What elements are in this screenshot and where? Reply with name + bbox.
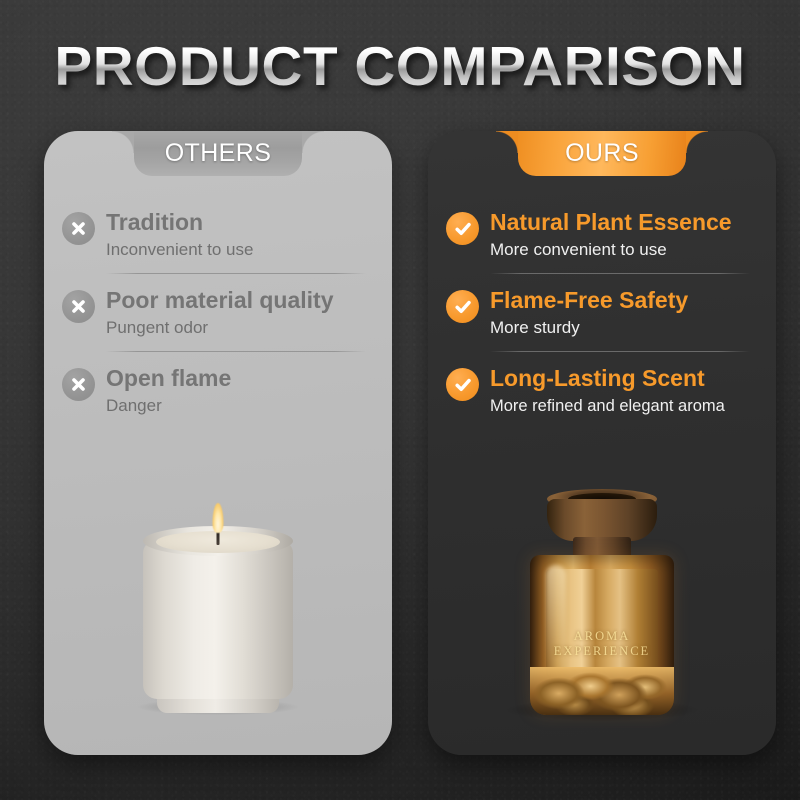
list-item: Poor material quality Pungent odor bbox=[62, 273, 374, 349]
check-circle-icon bbox=[446, 368, 479, 401]
tab-others[interactable]: OTHERS bbox=[134, 131, 302, 176]
tab-flare-left bbox=[112, 131, 134, 153]
feature-text: Long-Lasting Scent More refined and eleg… bbox=[490, 365, 725, 417]
feature-text: Tradition Inconvenient to use bbox=[106, 209, 253, 261]
tab-flare-right bbox=[302, 131, 324, 153]
tab-others-label: OTHERS bbox=[165, 139, 272, 168]
ours-card: OURS Natural Plant Essence More convenie… bbox=[428, 131, 776, 755]
feature-title: Tradition bbox=[106, 209, 203, 235]
ours-feature-list: Natural Plant Essence More convenient to… bbox=[428, 195, 776, 427]
feature-subtitle: Pungent odor bbox=[106, 317, 334, 339]
page-title: PRODUCT COMPARISON bbox=[0, 34, 800, 98]
diffuser-product-image: AROMA EXPERIENCE bbox=[428, 458, 776, 733]
tab-ours-label: OURS bbox=[565, 139, 639, 168]
others-card: OTHERS Tradition Inconvenient to use bbox=[44, 131, 392, 755]
feature-text: Natural Plant Essence More convenient to… bbox=[490, 209, 732, 261]
feature-title: Long-Lasting Scent bbox=[490, 365, 705, 391]
x-circle-icon bbox=[62, 212, 95, 245]
feature-subtitle: Inconvenient to use bbox=[106, 239, 253, 261]
bottle-highlight bbox=[546, 565, 566, 681]
feature-text: Poor material quality Pungent odor bbox=[106, 287, 334, 339]
x-circle-icon bbox=[62, 290, 95, 323]
feature-subtitle: Danger bbox=[106, 395, 231, 417]
candle-vessel bbox=[143, 541, 293, 699]
bottle-label: AROMA EXPERIENCE bbox=[530, 629, 674, 659]
list-item: Long-Lasting Scent More refined and eleg… bbox=[446, 351, 758, 427]
list-item: Open flame Danger bbox=[62, 351, 374, 427]
feature-divider bbox=[106, 351, 366, 352]
tab-ours[interactable]: OURS bbox=[518, 131, 686, 176]
list-item: Natural Plant Essence More convenient to… bbox=[446, 195, 758, 271]
feature-title: Poor material quality bbox=[106, 287, 334, 313]
bottle-glass-body: AROMA EXPERIENCE bbox=[530, 555, 674, 715]
flame-icon bbox=[213, 503, 224, 533]
feature-subtitle: More refined and elegant aroma bbox=[490, 395, 725, 417]
feature-text: Open flame Danger bbox=[106, 365, 231, 417]
comparison-infographic: PRODUCT COMPARISON OTHERS Tradition Inco… bbox=[0, 0, 800, 800]
candle-product-image bbox=[44, 491, 392, 721]
check-circle-icon bbox=[446, 212, 479, 245]
feature-subtitle: More convenient to use bbox=[490, 239, 732, 261]
feature-title: Flame-Free Safety bbox=[490, 287, 688, 313]
x-circle-icon bbox=[62, 368, 95, 401]
feature-divider bbox=[490, 351, 750, 352]
bottle-label-line2: EXPERIENCE bbox=[554, 644, 650, 658]
bottle-granules bbox=[530, 667, 674, 715]
others-feature-list: Tradition Inconvenient to use Poor mater… bbox=[44, 195, 392, 427]
bottle-wooden-cap bbox=[547, 499, 657, 541]
tab-flare-left bbox=[496, 131, 518, 153]
feature-divider bbox=[106, 273, 366, 274]
check-circle-icon bbox=[446, 290, 479, 323]
feature-subtitle: More sturdy bbox=[490, 317, 688, 339]
feature-title: Open flame bbox=[106, 365, 231, 391]
feature-divider bbox=[490, 273, 750, 274]
list-item: Flame-Free Safety More sturdy bbox=[446, 273, 758, 349]
list-item: Tradition Inconvenient to use bbox=[62, 195, 374, 271]
feature-text: Flame-Free Safety More sturdy bbox=[490, 287, 688, 339]
bottle-label-line1: AROMA bbox=[574, 629, 631, 643]
tab-flare-right bbox=[686, 131, 708, 153]
feature-title: Natural Plant Essence bbox=[490, 209, 732, 235]
